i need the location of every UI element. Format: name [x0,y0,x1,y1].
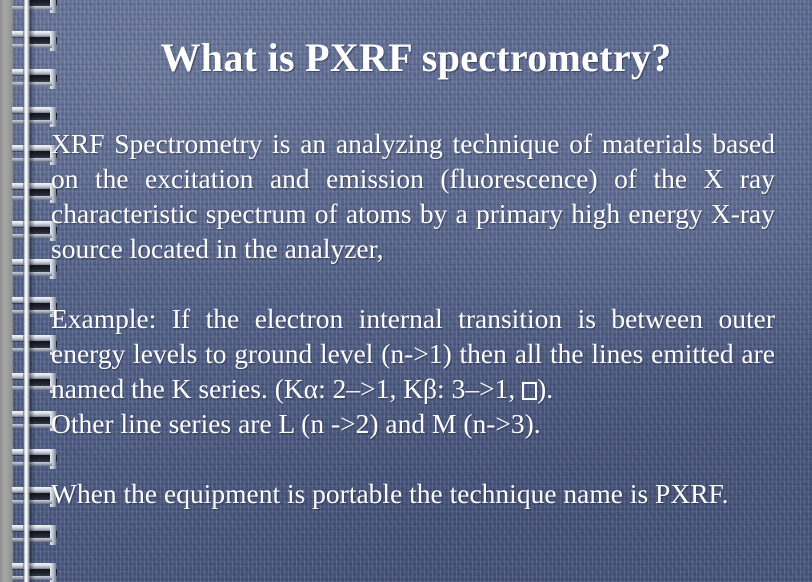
body-paragraph-1: XRF Spectrometry is an analyzing techniq… [51,126,775,266]
slide-content: What is PXRF spectrometry? XRF Spectrome… [0,0,812,582]
body-paragraph-2-text-b: ). [537,373,553,404]
body-paragraph-2-text-a: Example: If the electron internal transi… [51,303,775,404]
body-paragraph-3: When the equipment is portable the techn… [51,476,775,511]
slide-body: XRF Spectrometry is an analyzing techniq… [51,126,775,511]
page-title: What is PXRF spectrometry? [56,34,776,82]
body-paragraph-2: Example: If the electron internal transi… [51,301,775,441]
missing-glyph-box-icon [522,382,537,400]
body-paragraph-2-last-line: Other line series are L (n ->2) and M (n… [51,406,775,441]
presentation-slide: What is PXRF spectrometry? XRF Spectrome… [0,0,812,582]
